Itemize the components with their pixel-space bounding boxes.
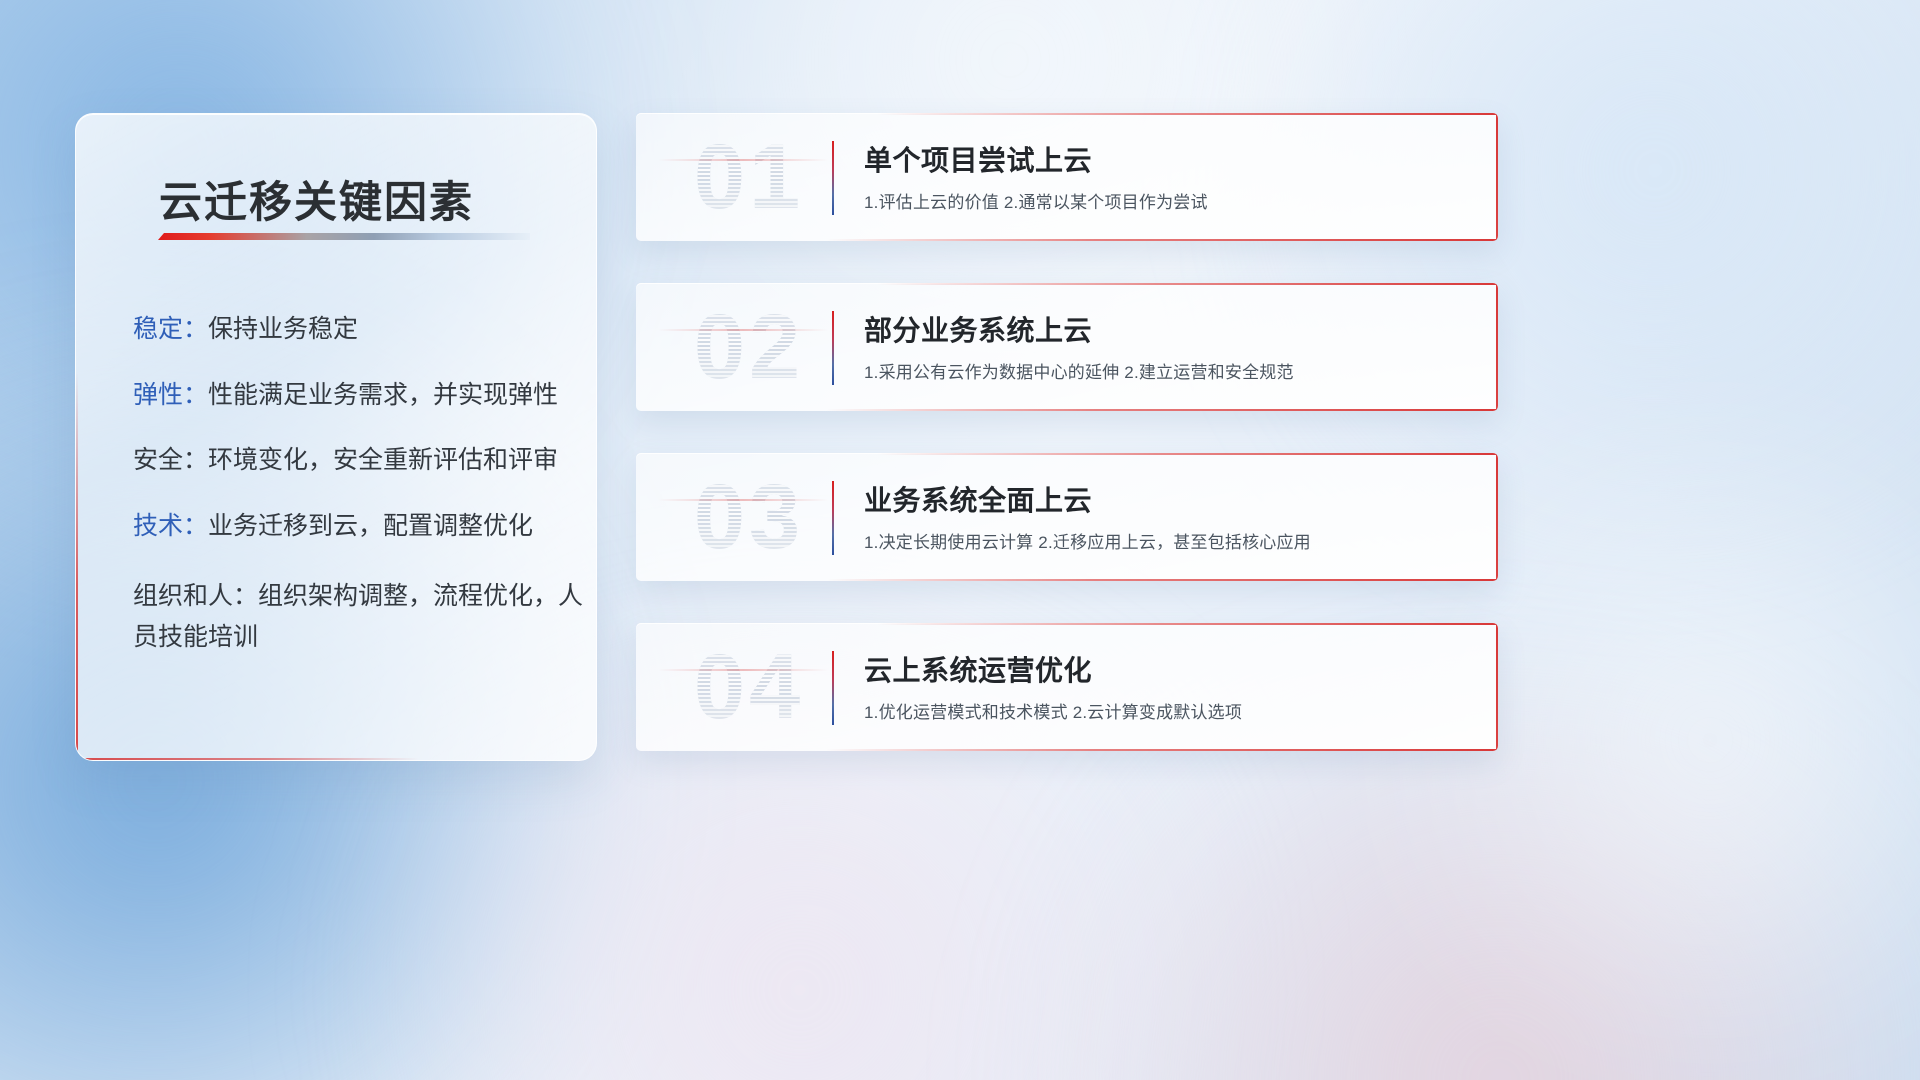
card-description: 1.决定长期使用云计算 2.迁移应用上云，甚至包括核心应用: [864, 528, 1311, 553]
title-underline-rule: [158, 233, 530, 240]
card-title: 部分业务系统上云: [864, 309, 1092, 349]
factor-label: 稳定：: [133, 315, 208, 343]
factor-label: 安全：: [133, 446, 208, 474]
card-right-accent-edge: [1496, 283, 1498, 411]
stage-number: 02: [654, 283, 844, 411]
factor-text: 环境变化，安全重新评估和评审: [208, 446, 558, 474]
card-divider: [832, 141, 834, 215]
card-title: 单个项目尝试上云: [864, 139, 1092, 179]
card-top-accent-edge: [877, 453, 1498, 455]
stage-number-highlight: [658, 499, 828, 501]
card-bottom-accent-edge: [826, 409, 1498, 411]
card-bottom-accent-edge: [826, 239, 1498, 241]
list-item: 技术：业务迁移到云，配置调整优化: [133, 511, 576, 542]
card-right-accent-edge: [1496, 113, 1498, 241]
list-item: 弹性：性能满足业务需求，并实现弹性: [133, 380, 576, 411]
stage-card-04[interactable]: 04 04 云上系统运营优化 1.优化运营模式和技术模式 2.云计算变成默认选项: [636, 623, 1498, 751]
card-right-accent-edge: [1496, 453, 1498, 581]
stage-number-highlight: [658, 669, 828, 671]
card-title: 业务系统全面上云: [864, 479, 1092, 519]
factor-label: 技术：: [133, 512, 208, 540]
card-divider: [832, 651, 834, 725]
stage-card-01[interactable]: 01 01 单个项目尝试上云 1.评估上云的价值 2.通常以某个项目作为尝试: [636, 113, 1498, 241]
card-description: 1.采用公有云作为数据中心的延伸 2.建立运营和安全规范: [864, 358, 1294, 383]
factor-text: 业务迁移到云，配置调整优化: [208, 512, 533, 540]
panel-bottom-accent-edge: [76, 758, 419, 760]
stage-number: 03: [654, 453, 844, 581]
stage-number: 04: [654, 623, 844, 751]
card-divider: [832, 311, 834, 385]
card-top-accent-edge: [877, 283, 1498, 285]
card-top-accent-edge: [877, 113, 1498, 115]
card-description: 1.评估上云的价值 2.通常以某个项目作为尝试: [864, 188, 1208, 213]
card-bottom-accent-edge: [826, 749, 1498, 751]
panel-left-accent-edge: [76, 372, 78, 760]
card-bottom-accent-edge: [826, 579, 1498, 581]
stage-number-highlight: [658, 159, 828, 161]
slide-stage: 云迁移关键因素 稳定：保持业务稳定 弹性：性能满足业务需求，并实现弹性 安全：环…: [0, 0, 1920, 1080]
card-description: 1.优化运营模式和技术模式 2.云计算变成默认选项: [864, 698, 1242, 723]
factor-label: 组织和人：: [133, 582, 258, 610]
stage-card-02[interactable]: 02 02 部分业务系统上云 1.采用公有云作为数据中心的延伸 2.建立运营和安…: [636, 283, 1498, 411]
card-top-accent-edge: [877, 623, 1498, 625]
page-title: 云迁移关键因素: [159, 168, 474, 230]
factor-label: 弹性：: [133, 381, 208, 409]
list-item: 稳定：保持业务稳定: [133, 314, 576, 345]
stage-card-03[interactable]: 03 03 业务系统全面上云 1.决定长期使用云计算 2.迁移应用上云，甚至包括…: [636, 453, 1498, 581]
stage-card-list: 01 01 单个项目尝试上云 1.评估上云的价值 2.通常以某个项目作为尝试 0…: [636, 113, 1498, 793]
key-factors-panel: 云迁移关键因素 稳定：保持业务稳定 弹性：性能满足业务需求，并实现弹性 安全：环…: [75, 113, 597, 761]
list-item: 安全：环境变化，安全重新评估和评审: [133, 445, 576, 476]
factor-text: 性能满足业务需求，并实现弹性: [208, 381, 558, 409]
card-title: 云上系统运营优化: [864, 649, 1092, 689]
stage-number: 01: [654, 113, 844, 241]
factor-text: 保持业务稳定: [208, 315, 358, 343]
card-divider: [832, 481, 834, 555]
list-item: 组织和人：组织架构调整，流程优化，人员技能培训: [133, 576, 585, 657]
card-right-accent-edge: [1496, 623, 1498, 751]
factor-list: 稳定：保持业务稳定 弹性：性能满足业务需求，并实现弹性 安全：环境变化，安全重新…: [133, 314, 576, 692]
stage-number-highlight: [658, 329, 828, 331]
